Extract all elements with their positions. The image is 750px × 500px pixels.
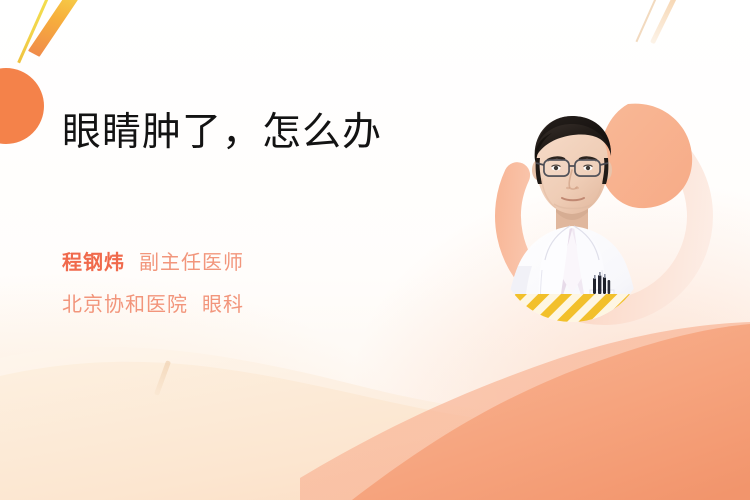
video-cover-card: 眼睛肿了，怎么办 程钢炜 副主任医师 北京协和医院 眼科 xyxy=(0,0,750,500)
headline-block: 眼睛肿了，怎么办 xyxy=(62,110,462,156)
doctor-hospital: 北京协和医院 xyxy=(62,288,188,317)
doctor-title: 副主任医师 xyxy=(139,246,244,275)
doctor-affiliation-row: 北京协和医院 眼科 xyxy=(62,288,462,317)
doctor-name-row: 程钢炜 副主任医师 xyxy=(62,246,462,275)
doctor-credits-block: 程钢炜 副主任医师 北京协和医院 眼科 xyxy=(62,246,462,317)
page-title: 眼睛肿了，怎么办 xyxy=(62,110,462,156)
doctor-name: 程钢炜 xyxy=(62,246,125,275)
doctor-department: 眼科 xyxy=(202,288,244,317)
doctor-portrait-image xyxy=(498,108,646,358)
